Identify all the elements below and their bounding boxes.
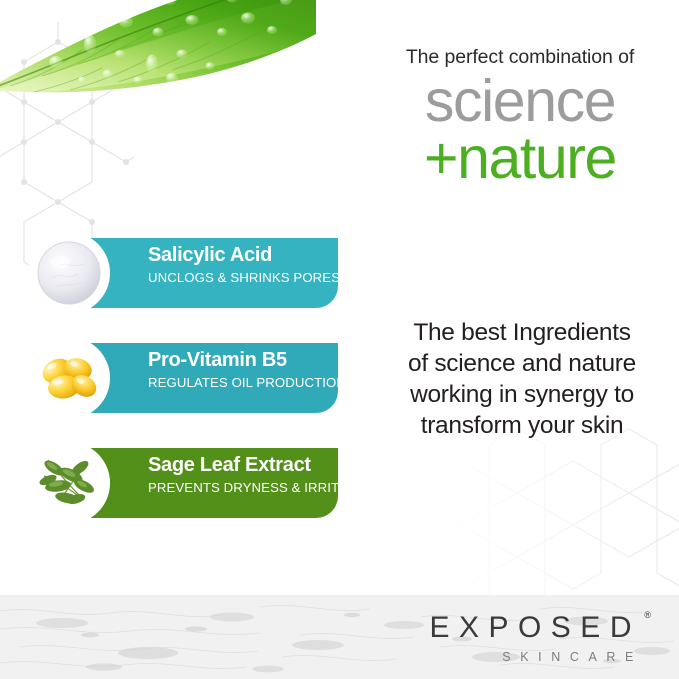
ingredient-benefit: REGULATES OIL PRODUCTION <box>148 374 358 391</box>
brand-name: EXPOSED ® <box>429 613 645 643</box>
brand-name-text: EXPOSED <box>429 611 641 644</box>
golden-softgel-capsules-icon <box>28 337 110 419</box>
sage-leaf-sprig-icon <box>28 442 110 524</box>
headline-nature-word: +nature <box>370 130 670 188</box>
white-powder-disc-icon <box>28 232 110 314</box>
brand-subtitle: SKINCARE <box>429 651 645 664</box>
ingredient-benefit: UNCLOGS & SHRINKS PORES <box>148 269 358 286</box>
dewy-green-leaf-photo-icon <box>0 0 316 150</box>
headline-kicker: The perfect combination of <box>370 46 670 69</box>
ingredient-thumbnail-salicylic-acid <box>28 232 110 314</box>
ingredient-row[interactable]: Pro-Vitamin B5 REGULATES OIL PRODUCTION <box>28 337 338 419</box>
ingredient-text-group: Pro-Vitamin B5 REGULATES OIL PRODUCTION <box>148 349 358 391</box>
body-copy-line: of science and nature <box>382 349 662 380</box>
body-copy-line: The best Ingredients <box>382 318 662 349</box>
ingredient-thumbnail-sage-leaf-extract <box>28 442 110 524</box>
ingredient-text-group: Sage Leaf Extract PREVENTS DRYNESS & IRR… <box>148 454 358 496</box>
ingredient-name: Sage Leaf Extract <box>148 454 358 477</box>
ingredient-name: Salicylic Acid <box>148 244 358 267</box>
ingredient-name: Pro-Vitamin B5 <box>148 349 358 372</box>
headline-block: The perfect combination of science +natu… <box>370 46 670 188</box>
honeycomb-watermark-icon <box>429 425 679 595</box>
headline-science-word: science <box>370 73 670 130</box>
body-copy-line: transform your skin <box>382 411 662 442</box>
ingredient-text-group: Salicylic Acid UNCLOGS & SHRINKS PORES <box>148 244 358 286</box>
brand-logo: EXPOSED ® SKINCARE <box>429 613 645 664</box>
ingredient-thumbnail-pro-vitamin-b5 <box>28 337 110 419</box>
ingredient-benefit: PREVENTS DRYNESS & IRRITATION <box>148 479 358 496</box>
ingredient-row[interactable]: Sage Leaf Extract PREVENTS DRYNESS & IRR… <box>28 442 338 524</box>
registered-trademark-icon: ® <box>644 611 651 620</box>
body-copy: The best Ingredients of science and natu… <box>382 318 662 441</box>
infographic-canvas: The perfect combination of science +natu… <box>0 0 679 679</box>
ingredient-row[interactable]: Salicylic Acid UNCLOGS & SHRINKS PORES <box>28 232 338 314</box>
body-copy-line: working in synergy to <box>382 380 662 411</box>
